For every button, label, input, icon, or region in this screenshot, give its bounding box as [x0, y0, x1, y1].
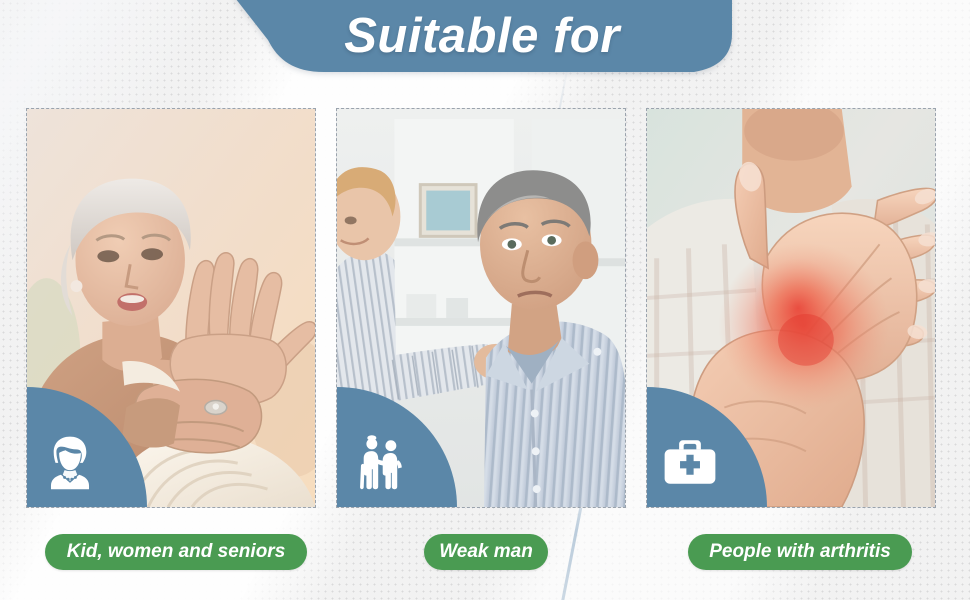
header-banner-shape	[232, 0, 732, 86]
poster-root: Suitable for	[0, 0, 970, 600]
header-banner: Suitable for	[232, 0, 732, 86]
card-weak-man[interactable]	[336, 108, 626, 508]
card-grid	[0, 0, 970, 600]
caption-kid-women-seniors: Kid, women and seniors	[45, 534, 307, 570]
card-kid-women-seniors[interactable]	[26, 108, 316, 508]
woman-icon	[41, 433, 99, 491]
caption-weak-man: Weak man	[424, 534, 548, 570]
card-people-with-arthritis[interactable]	[646, 108, 936, 508]
first-aid-kit-icon	[661, 433, 719, 491]
elderly-couple-icon	[351, 433, 409, 491]
caption-people-with-arthritis: People with arthritis	[688, 534, 912, 570]
